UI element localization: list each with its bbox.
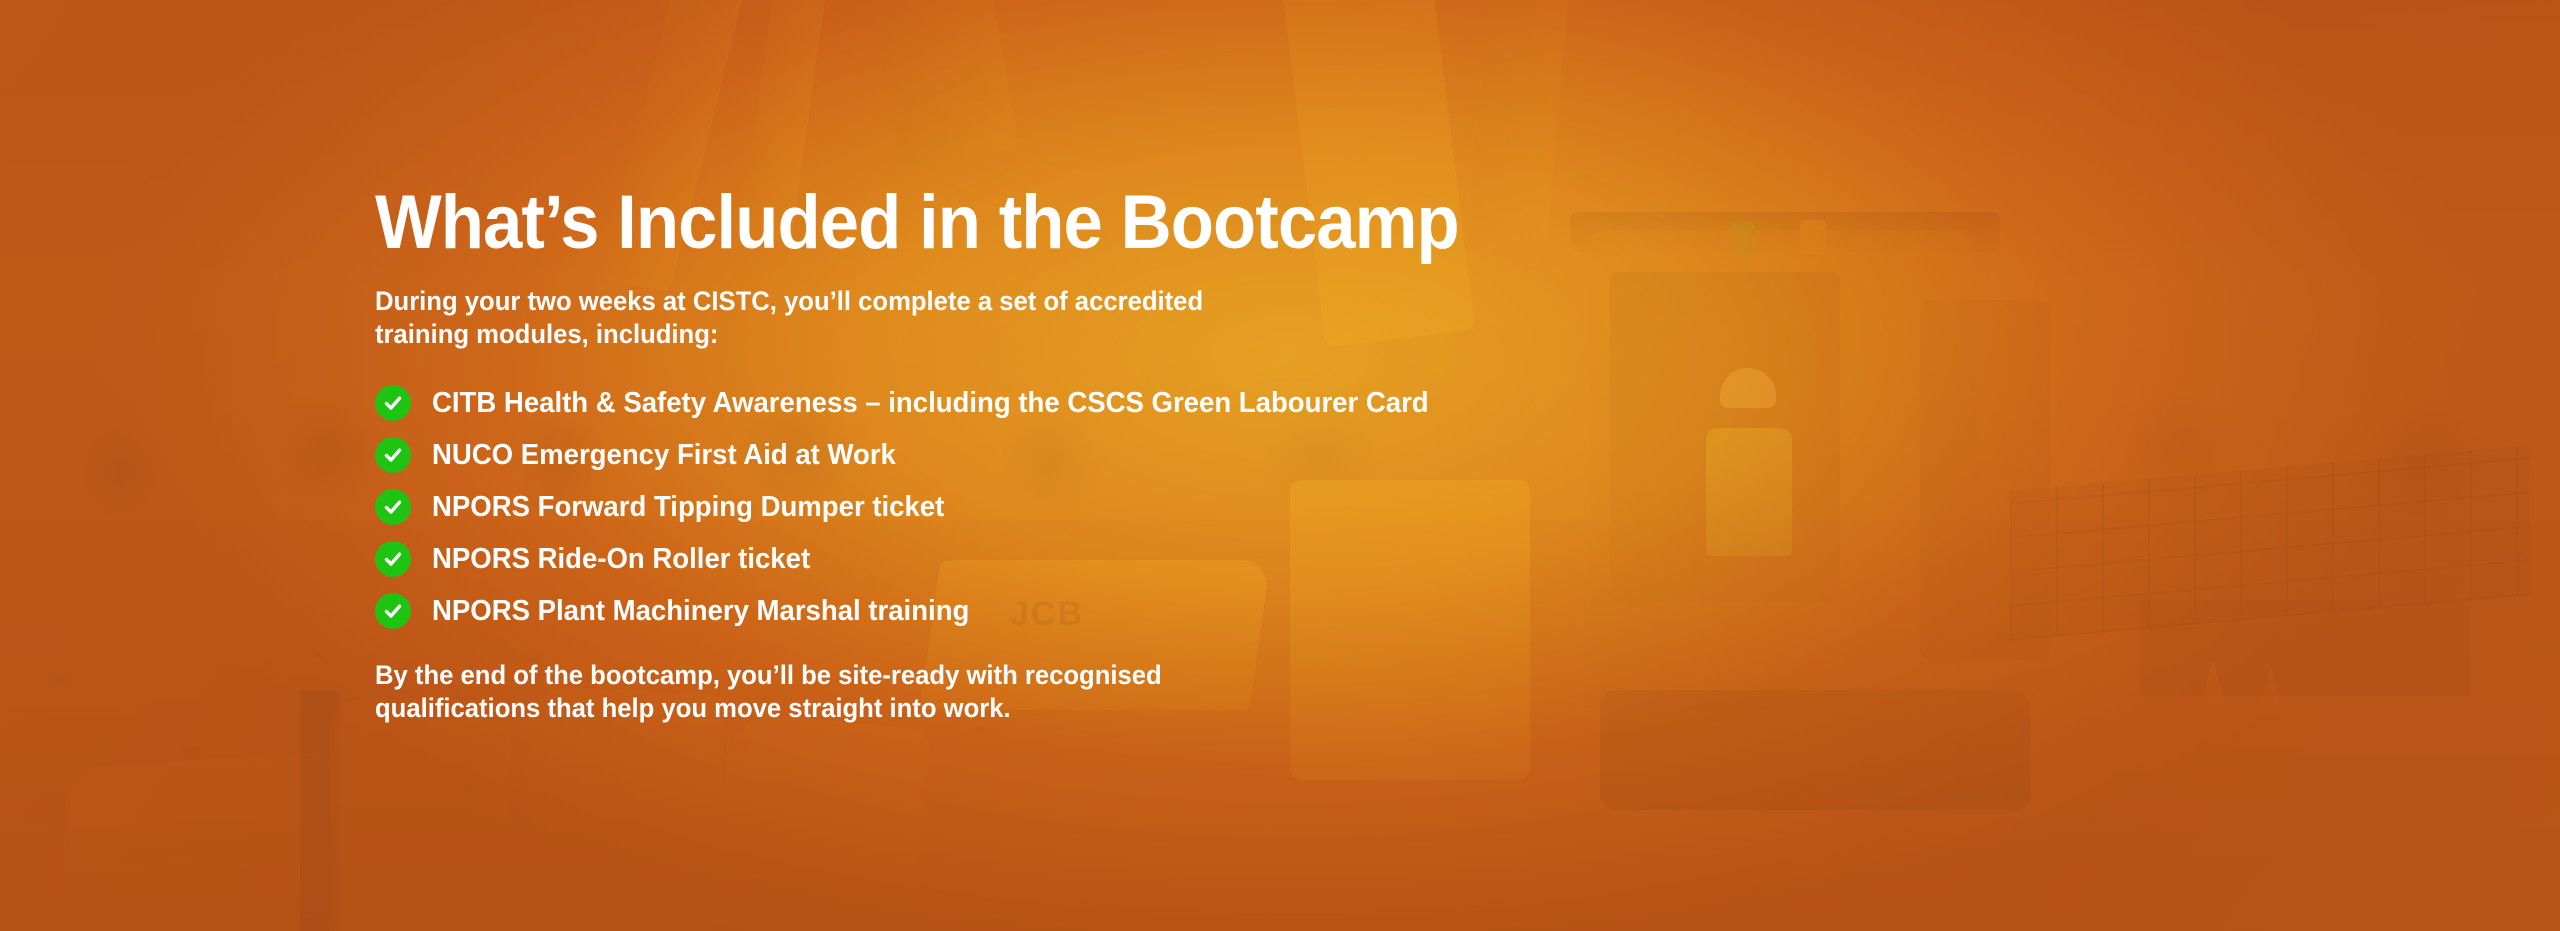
list-item: CITB Health & Safety Awareness – includi… xyxy=(375,377,2175,429)
list-item-label: NPORS Plant Machinery Marshal training xyxy=(432,597,969,626)
check-circle-icon xyxy=(375,541,411,577)
check-circle-icon xyxy=(375,385,411,421)
hero-subheading-line: training modules, including: xyxy=(375,318,2085,351)
check-circle-icon xyxy=(375,437,411,473)
list-item: NPORS Forward Tipping Dumper ticket xyxy=(375,481,2175,533)
hero-content: What’s Included in the Bootcamp During y… xyxy=(375,185,2175,725)
hero-banner: JCB What’s Included in the Bootcamp Duri… xyxy=(0,0,2560,931)
list-item: NPORS Ride-On Roller ticket xyxy=(375,533,2175,585)
list-item: NPORS Plant Machinery Marshal training xyxy=(375,585,2175,637)
included-modules-list: CITB Health & Safety Awareness – includi… xyxy=(375,377,2175,637)
list-item-label: NPORS Ride-On Roller ticket xyxy=(432,545,810,574)
page-title: What’s Included in the Bootcamp xyxy=(375,185,2049,261)
hero-outro: By the end of the bootcamp, you’ll be si… xyxy=(375,659,2085,725)
list-item-label: NPORS Forward Tipping Dumper ticket xyxy=(432,493,944,522)
hero-subheading-line: During your two weeks at CISTC, you’ll c… xyxy=(375,285,2085,318)
hero-outro-line: By the end of the bootcamp, you’ll be si… xyxy=(375,659,2085,692)
list-item-label: NUCO Emergency First Aid at Work xyxy=(432,441,896,470)
list-item: NUCO Emergency First Aid at Work xyxy=(375,429,2175,481)
hero-outro-line: qualifications that help you move straig… xyxy=(375,692,2085,725)
check-circle-icon xyxy=(375,489,411,525)
list-item-label: CITB Health & Safety Awareness – includi… xyxy=(432,389,1429,418)
check-circle-icon xyxy=(375,593,411,629)
hero-subheading: During your two weeks at CISTC, you’ll c… xyxy=(375,285,2085,351)
